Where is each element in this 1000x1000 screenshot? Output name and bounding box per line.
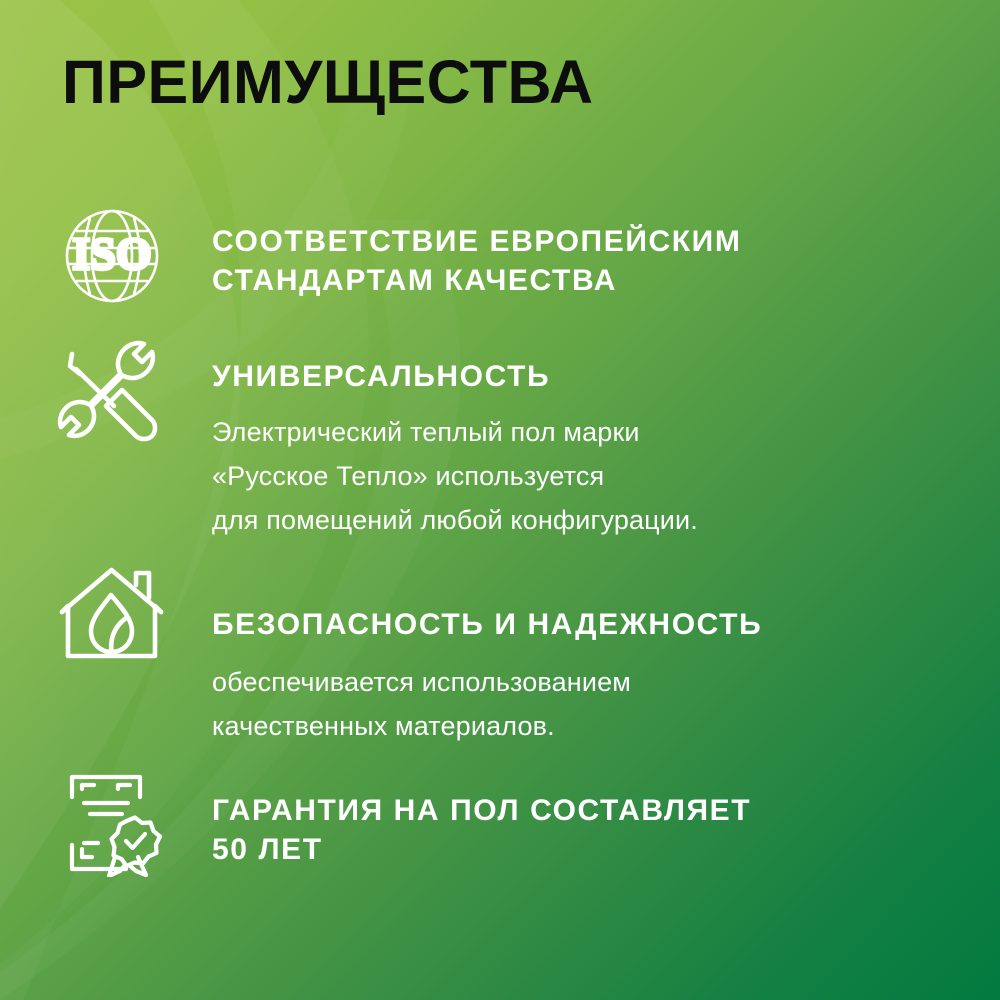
feature-body: БЕЗОПАСНОСТЬ И НАДЕЖНОСТЬ обеспечивается… [212,605,952,748]
advantages-poster: ПРЕИМУЩЕСТВА ISO [0,0,1000,1000]
feature-heading: БЕЗОПАСНОСТЬ И НАДЕЖНОСТЬ [212,605,952,644]
feature-heading: ГАРАНТИЯ НА ПОЛ СОСТАВЛЯЕТ 50 ЛЕТ [212,791,952,869]
feature-body: СООТВЕТСТВИЕ ЕВРОПЕЙСКИМ СТАНДАРТАМ КАЧЕ… [212,222,952,300]
feature-heading: СООТВЕТСТВИЕ ЕВРОПЕЙСКИМ СТАНДАРТАМ КАЧЕ… [212,222,952,300]
feature-body: ГАРАНТИЯ НА ПОЛ СОСТАВЛЯЕТ 50 ЛЕТ [212,791,952,869]
feature-text: Электрический теплый пол марки «Русское … [212,410,952,542]
tools-screwdriver-wrench-icon [56,340,174,444]
feature-heading: УНИВЕРСАЛЬНОСТЬ [212,357,952,396]
feature-text: обеспечивается использованием качественн… [212,660,952,748]
page-title: ПРЕИМУЩЕСТВА [62,52,594,113]
iso-globe-icon: ISO [56,206,174,310]
certificate-award-icon [56,773,174,877]
iso-icon-label: ISO [72,228,151,279]
feature-body: УНИВЕРСАЛЬНОСТЬ Электрический теплый пол… [212,357,952,542]
house-leaf-icon [56,565,174,669]
